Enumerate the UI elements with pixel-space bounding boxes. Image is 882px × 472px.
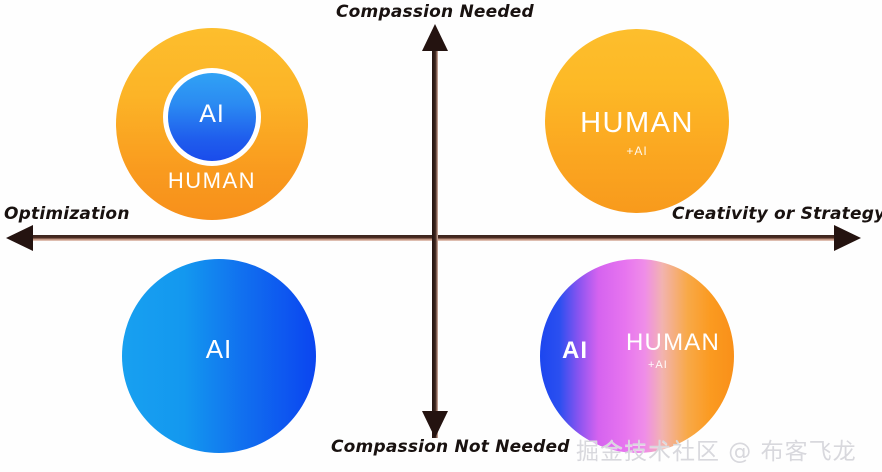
axis-label-creativity-or-strategy: Creativity or Strategy: [672, 204, 882, 224]
bubble-label-ai: AI: [562, 337, 588, 365]
vertical-axis-line: [432, 30, 438, 438]
bubble-label-plus-ai: +AI: [545, 144, 729, 158]
bubble-label-ai: AI: [122, 334, 316, 365]
axis-label-compassion-not-needed: Compassion Not Needed: [331, 437, 570, 457]
bubble-label-human: HUMAN: [545, 107, 729, 140]
arrow-down-icon: [422, 411, 448, 438]
bubble-label-plus-ai: +AI: [648, 359, 668, 371]
quadrant-bubble-bottom-left: AI: [122, 259, 316, 453]
quadrant-bubble-top-right: HUMAN +AI: [545, 29, 729, 213]
arrow-right-icon: [834, 225, 861, 251]
axis-label-optimization: Optimization: [4, 204, 130, 224]
diagram-canvas: Compassion Needed Compassion Not Needed …: [0, 0, 882, 472]
axis-label-compassion-needed: Compassion Needed: [336, 2, 534, 22]
bubble-label-human: HUMAN: [116, 168, 308, 194]
horizontal-axis-line: [14, 235, 846, 241]
bubble-label-ai: AI: [116, 100, 308, 129]
arrow-up-icon: [422, 24, 448, 51]
quadrant-bubble-top-left: AI HUMAN: [116, 28, 308, 220]
bubble-label-human: HUMAN: [626, 329, 720, 357]
quadrant-bubble-bottom-right: AI HUMAN +AI: [540, 259, 734, 453]
watermark-text: 掘金技术社区 @ 布客飞龙: [576, 432, 857, 466]
arrow-left-icon: [6, 225, 33, 251]
